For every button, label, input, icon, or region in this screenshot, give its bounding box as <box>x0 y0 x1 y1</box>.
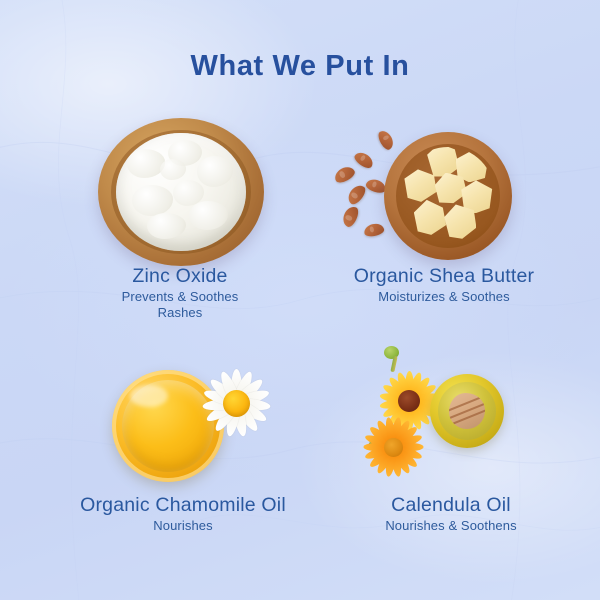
glass-highlight <box>130 385 168 407</box>
shea-nut <box>376 128 396 151</box>
chamomile-oil-bowl-image <box>112 362 277 487</box>
wooden-bowl-icon <box>98 118 264 266</box>
zinc-oxide-bowl-image <box>98 118 264 266</box>
shea-butter-chunks <box>401 147 496 244</box>
shea-nut <box>340 204 360 228</box>
calendula-oil-image <box>344 344 508 484</box>
organic-shea-butter-caption: Organic Shea Butter Moisturizes & Soothe… <box>294 265 594 305</box>
ingredient-benefit-line1: Nourishes & Soothens <box>301 518 600 534</box>
ingredient-benefit-line1: Nourishes <box>33 518 333 534</box>
flower-center <box>223 390 250 417</box>
cork-disc <box>449 393 485 429</box>
shea-nut <box>332 164 357 185</box>
ingredient-benefit-line2: Rashes <box>30 305 330 321</box>
shea-butter-bowl-image <box>330 132 515 264</box>
flower-center <box>384 438 403 457</box>
ingredients-infographic: What We Put In Zinc Oxide Prevents & <box>0 0 600 600</box>
calendula-flower-icon <box>352 406 434 488</box>
ingredient-name: Calendula Oil <box>301 494 600 516</box>
wooden-bowl-icon <box>384 132 512 260</box>
ingredient-name: Zinc Oxide <box>30 265 330 287</box>
oil-jar-icon <box>430 374 504 448</box>
ingredient-name: Organic Chamomile Oil <box>33 494 333 516</box>
ingredient-benefit-line1: Moisturizes & Soothes <box>294 289 594 305</box>
shea-nut <box>363 222 385 238</box>
chamomile-flower-icon <box>200 364 272 442</box>
calendula-oil-caption: Calendula Oil Nourishes & Soothens <box>301 494 600 534</box>
zinc-oxide-powder <box>116 133 246 251</box>
shea-nut <box>352 149 375 170</box>
ingredient-benefit-line1: Prevents & Soothes <box>30 289 330 305</box>
organic-chamomile-oil-caption: Organic Chamomile Oil Nourishes <box>33 494 333 534</box>
ingredient-name: Organic Shea Butter <box>294 265 594 287</box>
zinc-oxide-caption: Zinc Oxide Prevents & Soothes Rashes <box>30 265 330 321</box>
shea-nut <box>345 182 368 207</box>
page-title: What We Put In <box>0 50 600 83</box>
